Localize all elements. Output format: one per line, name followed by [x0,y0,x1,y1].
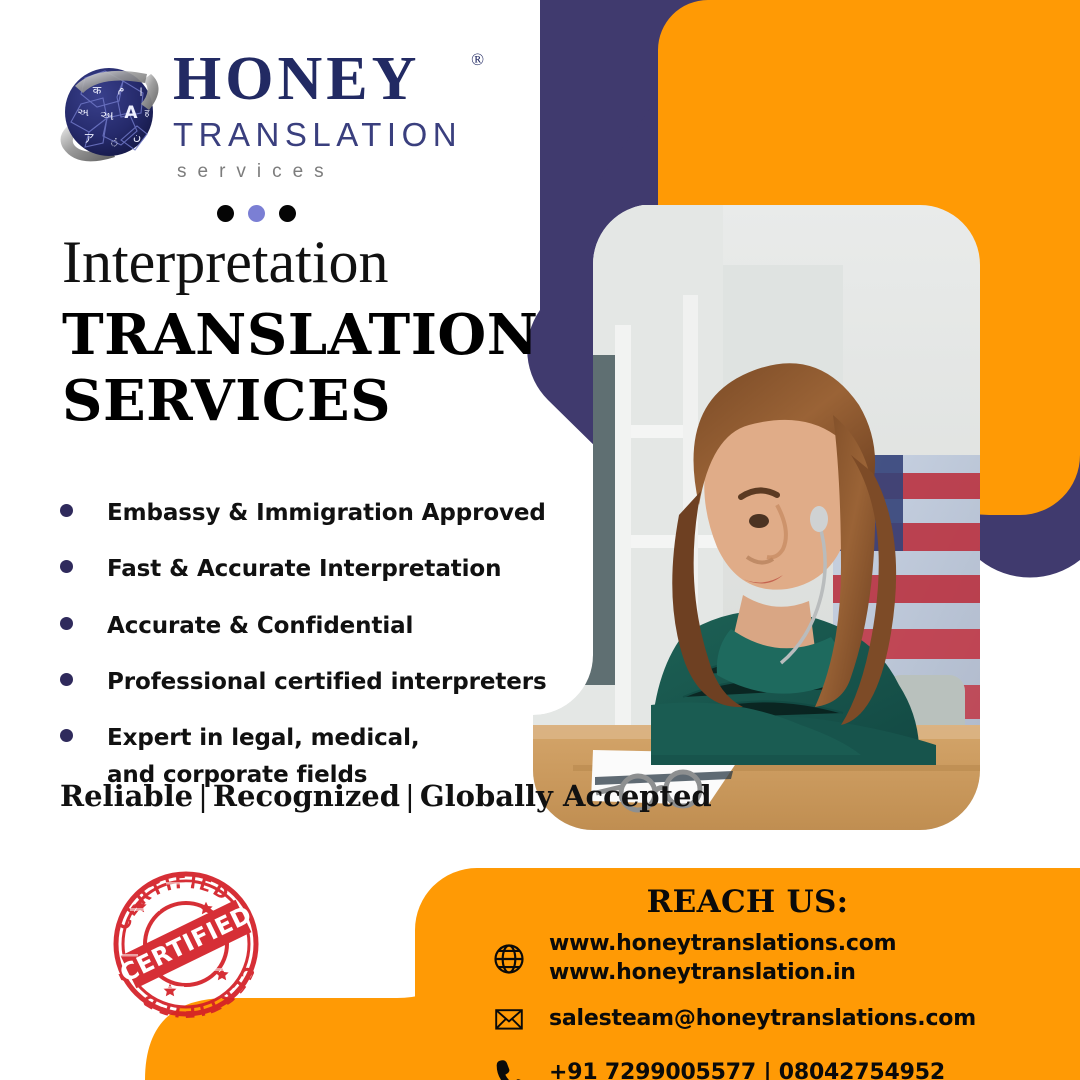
website-values: www.honeytranslations.com www.honeytrans… [549,930,896,987]
dot-divider [217,205,475,222]
logo: क م ا અ અ A ह ア ் ن [55,48,475,222]
contact-panel: REACH US: www.honeytranslations.com www.… [415,868,1080,1080]
headline: Interpretation TRANSLATION SERVICES [62,232,532,434]
svg-text:م: م [118,82,125,95]
svg-text:ア: ア [84,132,95,145]
svg-text:ا: ا [139,86,142,99]
dot-2 [248,205,265,222]
tagline-separator: | [400,779,420,813]
website-2[interactable]: www.honeytranslation.in [549,959,896,988]
tagline-item-2: Recognized [213,779,400,813]
envelope-icon [487,997,531,1041]
logo-line-translation: TRANSLATION [173,116,462,154]
logo-name: HONEY [173,45,420,113]
feature-list: Embassy & Immigration Approved Fast & Ac… [56,495,556,813]
logo-line-services: services [173,161,462,183]
dot-1 [217,205,234,222]
list-item: Accurate & Confidential [56,608,556,644]
svg-text:A: A [124,103,138,123]
bullet-icon [60,560,73,573]
globe-logo-icon: क م ا અ અ A ह ア ் ن [55,56,167,174]
headline-line-2: SERVICES [62,368,532,434]
list-item-label: Fast & Accurate Interpretation [107,551,501,587]
tagline-separator: | [193,779,213,813]
list-item-label: Embassy & Immigration Approved [107,495,546,531]
phone-icon [487,1051,531,1080]
phone-value[interactable]: +91 7299005577 | 08042754952 [549,1059,945,1080]
svg-text:்: ் [110,136,120,149]
poster: क م ا અ અ A ह ア ் ن [0,0,1080,1080]
tagline-item-1: Reliable [60,779,193,813]
list-item-label: Professional certified interpreters [107,664,547,700]
svg-text:અ: અ [100,109,114,124]
bullet-icon [60,617,73,630]
list-item: Fast & Accurate Interpretation [56,551,556,587]
registered-icon: ® [471,52,484,68]
hero-photo [533,205,980,830]
svg-text:ह: ह [145,109,150,119]
contact-row-website[interactable]: www.honeytranslations.com www.honeytrans… [487,930,1080,987]
headline-main: TRANSLATION SERVICES [62,302,532,434]
list-item-label: Accurate & Confidential [107,608,413,644]
headline-line-1: TRANSLATION [62,302,532,368]
bullet-icon [60,504,73,517]
bullet-icon [60,673,73,686]
svg-text:ن: ن [133,130,141,143]
bullet-icon [60,729,73,742]
list-item: Embassy & Immigration Approved [56,495,556,531]
reach-us-heading: REACH US: [415,868,1080,920]
headline-script: Interpretation [62,232,532,292]
tagline-item-3: Globally Accepted [420,779,712,813]
contact-row-email[interactable]: salesteam@honeytranslations.com [487,997,1080,1041]
contact-row-phone[interactable]: +91 7299005577 | 08042754952 [487,1051,1080,1080]
globe-icon [487,937,531,981]
dot-3 [279,205,296,222]
email-value[interactable]: salesteam@honeytranslations.com [549,1005,976,1034]
website-1[interactable]: www.honeytranslations.com [549,930,896,959]
logo-wordmark: HONEY® [173,50,462,109]
certified-stamp-icon: CERTIFIED CERTIFIED CERTIFIED [106,868,266,1020]
list-item: Professional certified interpreters [56,664,556,700]
tagline: Reliable|Recognized|Globally Accepted [60,779,712,813]
svg-text:क: क [93,84,102,97]
svg-text:અ: અ [77,106,89,119]
